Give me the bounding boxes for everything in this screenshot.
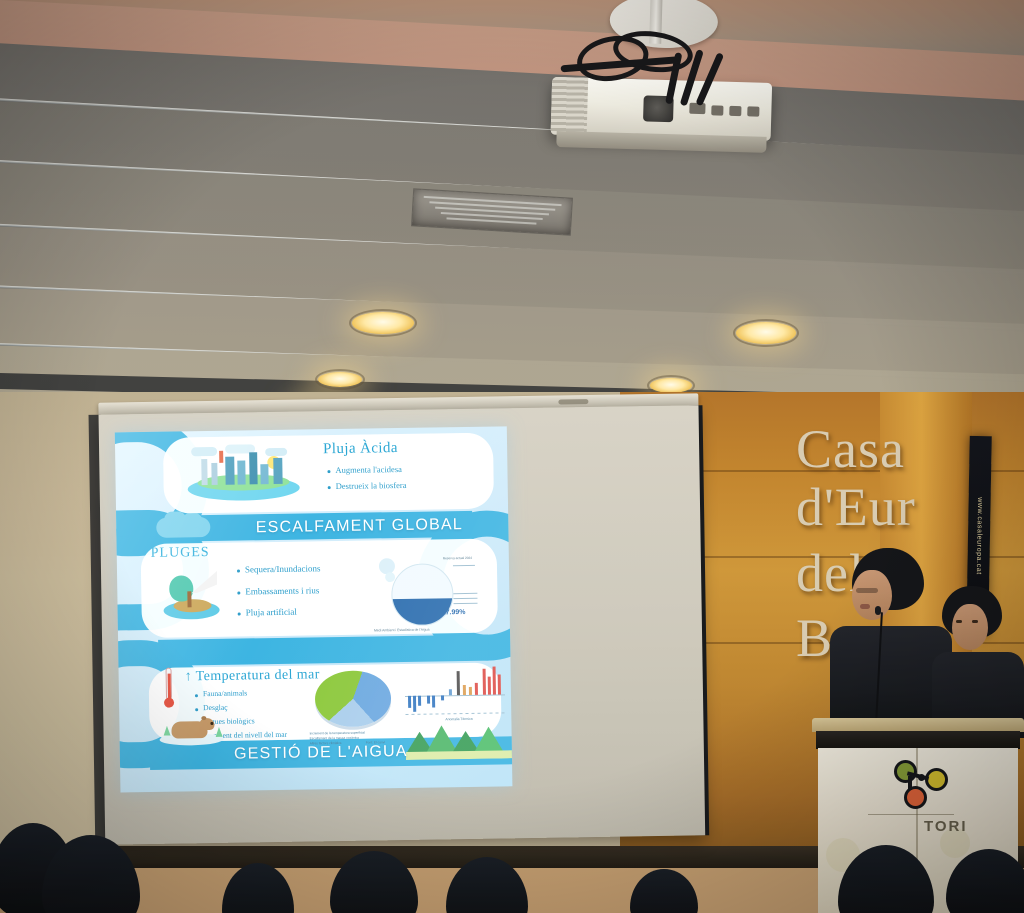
microphone-head <box>875 606 881 615</box>
section-title-pluges: PLUGES <box>151 545 210 562</box>
bullet-text: Augmenta l'acidesa <box>335 464 402 476</box>
globe-chart-top-note: Reserva actual 2024 <box>443 557 477 561</box>
bar-chart: Anomalia Tèrmica <box>405 664 506 728</box>
bullet-text: Embassaments i rius <box>245 585 319 598</box>
globe-water-chart: Reserva actual 2024 17.99% Medi Ambient … <box>369 553 480 637</box>
audience-head <box>222 863 294 913</box>
speaker-secondary <box>932 586 1024 736</box>
speaker-primary-face <box>852 570 892 620</box>
projector-vent-grille <box>551 77 589 136</box>
lecture-hall-photo: Casa d'Eur del B www.casaleuropa.cat <box>0 0 1024 913</box>
ceiling-downlight <box>318 372 362 387</box>
projector-port <box>747 106 759 116</box>
section-bullets-pluja-acida: Augmenta l'acidesa Destrueix la biosfera <box>327 462 497 496</box>
section-title-temperatura-mar: ↑ Temperatura del mar <box>185 667 320 685</box>
city-pollution-illustration <box>181 442 304 506</box>
pie-chart: Increment de la temperatura superficial … <box>307 668 404 747</box>
audience-head <box>446 857 528 913</box>
band-gestio-aigua: GESTIÓ DE L'AIGUA <box>206 737 436 769</box>
speaker-secondary-face <box>952 604 988 650</box>
bullet-text: Destrueix la biosfera <box>336 480 407 492</box>
bullet-text: Sequera/Inundacions <box>245 563 321 576</box>
section-title-pluja-acida: Pluja Àcida <box>323 440 398 458</box>
bullet-text: Desglaç <box>203 703 228 712</box>
globe-chart-value: 17.99% <box>442 609 466 616</box>
bullet-text: Pluja artificial <box>246 607 297 619</box>
audience-head <box>838 845 934 913</box>
audience <box>0 803 1024 913</box>
audience-head <box>946 849 1024 913</box>
ceiling-downlight <box>736 322 796 344</box>
projection-screen: Pluja Àcida Augmenta l'acidesa Destrueix… <box>88 393 715 873</box>
thermometer-icon <box>163 668 176 712</box>
ceiling <box>0 0 1024 420</box>
projector-port <box>729 106 741 116</box>
band-escalfament-global: ESCALFAMENT GLOBAL <box>234 513 484 541</box>
globe-chart-caption: Medi Ambient i Estadística de l'Aigua <box>374 628 430 633</box>
tree-drought-illustration <box>159 567 224 624</box>
audience-head <box>630 869 698 913</box>
podium-dark-band <box>816 731 1020 749</box>
ceiling-projector <box>550 19 780 155</box>
cloud-icon-puff <box>182 513 202 527</box>
presentation-slide: Pluja Àcida Augmenta l'acidesa Destrueix… <box>115 426 513 792</box>
ceiling-downlight <box>352 312 414 334</box>
bullet-text: Fauna/animals <box>203 688 247 698</box>
projector-port <box>711 105 723 115</box>
path-horizontal-lower <box>158 635 488 666</box>
bar-chart-title: Anomalia Tèrmica <box>445 717 472 721</box>
ceiling-downlight <box>650 378 692 393</box>
audience-head <box>330 851 418 913</box>
podium-top-surface <box>812 718 1024 732</box>
wall-banner-text: www.casaleuropa.cat <box>975 497 983 575</box>
